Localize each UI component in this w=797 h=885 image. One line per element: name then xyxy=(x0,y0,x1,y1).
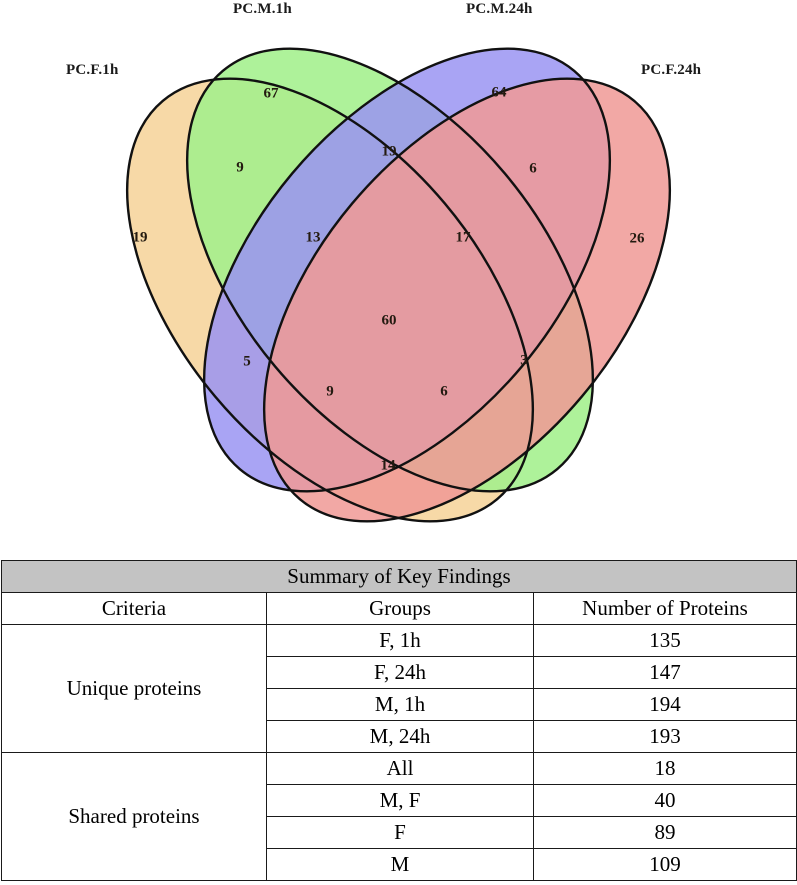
table-cell-count: 89 xyxy=(534,817,797,849)
table-cell-group: F xyxy=(267,817,534,849)
table-cell-count: 193 xyxy=(534,721,797,753)
table-title: Summary of Key Findings xyxy=(2,561,797,593)
table-cell-count: 40 xyxy=(534,785,797,817)
venn-set-label-pc-f-24h: PC.F.24h xyxy=(641,62,701,79)
venn-set-label-pc-m-24h: PC.M.24h xyxy=(466,1,533,18)
table-cell-group: M, 1h xyxy=(267,689,534,721)
table-cell-count: 135 xyxy=(534,625,797,657)
table-cell-group: M xyxy=(267,849,534,881)
table-header-number: Number of Proteins xyxy=(534,593,797,625)
venn-diagram-svg xyxy=(0,0,797,560)
table-cell-count: 194 xyxy=(534,689,797,721)
table-header-groups: Groups xyxy=(267,593,534,625)
table-row: Shared proteins All 18 xyxy=(2,753,797,785)
summary-table-container: Summary of Key Findings Criteria Groups … xyxy=(0,560,797,881)
summary-table: Summary of Key Findings Criteria Groups … xyxy=(1,560,797,881)
table-cell-group: F, 1h xyxy=(267,625,534,657)
table-cell-group: M, 24h xyxy=(267,721,534,753)
table-criteria-shared-proteins: Shared proteins xyxy=(2,753,267,881)
table-row: Unique proteins F, 1h 135 xyxy=(2,625,797,657)
table-criteria-unique-proteins: Unique proteins xyxy=(2,625,267,753)
table-cell-count: 18 xyxy=(534,753,797,785)
venn-diagram-figure: PC.F.1h PC.M.1h PC.M.24h PC.F.24h 19 67 … xyxy=(0,0,797,560)
venn-set-label-pc-m-1h: PC.M.1h xyxy=(233,1,292,18)
table-cell-group: M, F xyxy=(267,785,534,817)
table-title-row: Summary of Key Findings xyxy=(2,561,797,593)
table-cell-group: F, 24h xyxy=(267,657,534,689)
table-cell-group: All xyxy=(267,753,534,785)
table-header-criteria: Criteria xyxy=(2,593,267,625)
venn-set-label-pc-f-1h: PC.F.1h xyxy=(66,62,119,79)
table-header-row: Criteria Groups Number of Proteins xyxy=(2,593,797,625)
table-cell-count: 109 xyxy=(534,849,797,881)
table-cell-count: 147 xyxy=(534,657,797,689)
